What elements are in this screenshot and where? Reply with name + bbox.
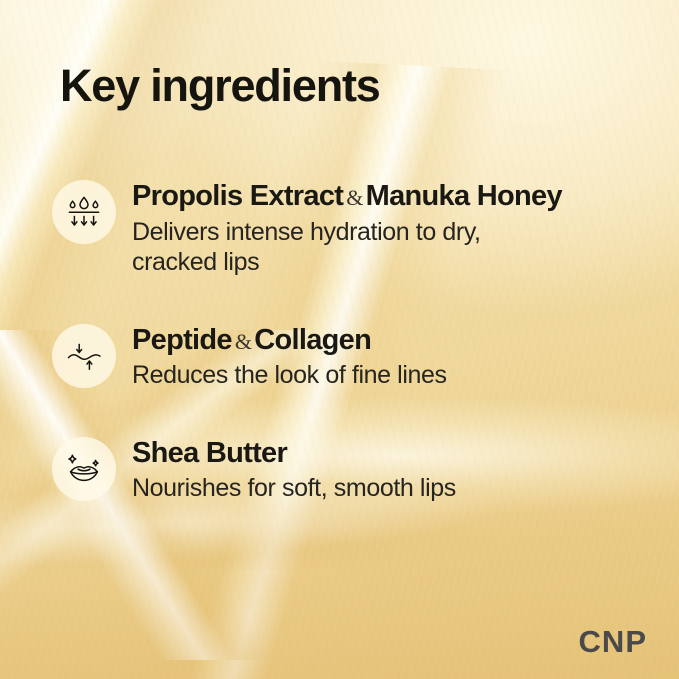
ingredient-name-primary: Propolis Extract [132, 180, 343, 212]
sparkling-lips-icon [52, 437, 116, 501]
ingredient-description: Delivers intense hydration to dry, crack… [132, 217, 562, 278]
brand-logo: CNP [579, 626, 647, 657]
ingredient-name-separator: & [232, 329, 254, 354]
product-info-card: Key ingredients [0, 0, 679, 679]
ingredient-list: Propolis Extract&Manuka Honey Delivers i… [52, 178, 653, 504]
smoothing-wave-icon [52, 324, 116, 388]
ingredient-name-secondary: Manuka Honey [366, 180, 562, 212]
ingredient-description: Reduces the look of fine lines [132, 360, 447, 391]
ingredient-text: Propolis Extract&Manuka Honey Delivers i… [132, 178, 562, 278]
ingredient-name: Shea Butter [132, 437, 456, 471]
page-title: Key ingredients [60, 63, 380, 108]
ingredient-name-primary: Peptide [132, 324, 232, 356]
card-content: Key ingredients [0, 0, 679, 679]
ingredient-item-propolis: Propolis Extract&Manuka Honey Delivers i… [52, 178, 653, 278]
ingredient-item-shea-butter: Shea Butter Nourishes for soft, smooth l… [52, 435, 653, 504]
ingredient-text: Shea Butter Nourishes for soft, smooth l… [132, 435, 456, 504]
ingredient-name-separator [287, 442, 293, 467]
ingredient-name-separator: & [343, 185, 365, 210]
ingredient-text: Peptide&Collagen Reduces the look of fin… [132, 322, 447, 391]
ingredient-name: Peptide&Collagen [132, 324, 447, 358]
ingredient-item-peptide: Peptide&Collagen Reduces the look of fin… [52, 322, 653, 391]
water-drops-absorb-icon [52, 180, 116, 244]
ingredient-name-primary: Shea Butter [132, 437, 287, 469]
ingredient-description: Nourishes for soft, smooth lips [132, 473, 456, 504]
ingredient-name-secondary: Collagen [254, 324, 371, 356]
ingredient-name: Propolis Extract&Manuka Honey [132, 180, 562, 214]
